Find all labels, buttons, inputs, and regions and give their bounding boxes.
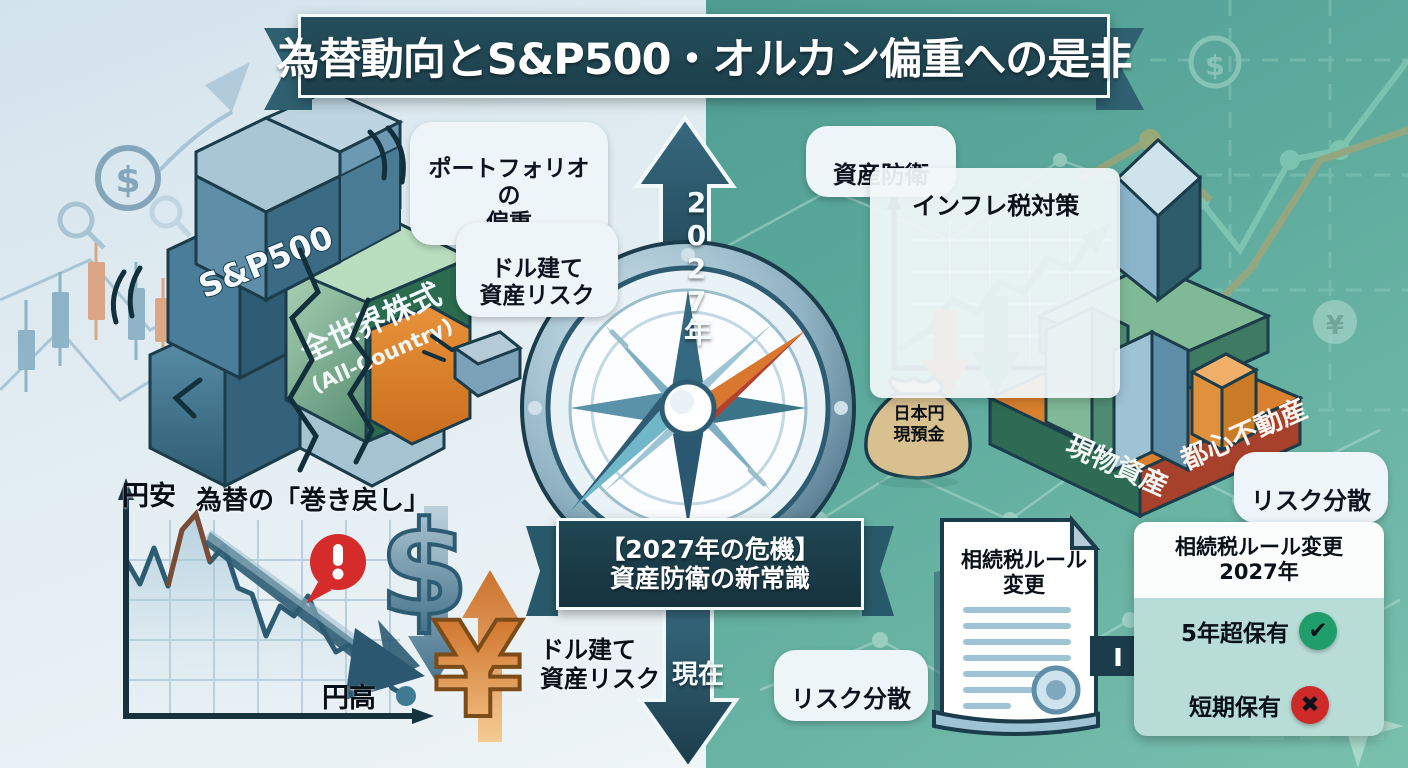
inheritance-title-line1: 相続税ルール変更 (1175, 535, 1343, 560)
center-banner: 【2027年の危機】 資産防衛の新常識 (540, 518, 880, 610)
center-banner-body: 【2027年の危機】 資産防衛の新常識 (556, 518, 864, 610)
inheritance-row-long-hold: 5年超保有 ✔ (1134, 612, 1384, 650)
inflation-card-title: インフレ税対策 (912, 186, 1079, 221)
inheritance-row-short-hold: 短期保有 ✖ (1134, 686, 1384, 724)
title-ribbon: 為替動向とS&P500・オルカン偏重への是非 (264, 14, 1144, 98)
money-bag-line2: 現預金 (884, 425, 954, 446)
money-bag-line1: 日本円 (884, 404, 954, 425)
bubble-risk-diversify-center: リスク分散 (774, 650, 928, 721)
svg-text:$: $ (1205, 49, 1224, 82)
inheritance-card-header: 相続税ルール変更 2027年 (1134, 522, 1384, 598)
bubble-dollar-asset-risk: ドル建て 資産リスク (456, 222, 618, 317)
svg-text:$: $ (115, 160, 140, 201)
inheritance-card-body: 5年超保有 ✔ 短期保有 ✖ (1134, 598, 1384, 736)
inheritance-row-short-hold-label: 短期保有 (1189, 688, 1281, 722)
fx-annotation: 為替の「巻き戻し」 (196, 480, 430, 517)
bubble-dollar-asset-risk-label: ドル建て 資産リスク (480, 256, 595, 309)
document-label: 相続税ルール 変更 (948, 548, 1100, 598)
check-icon: ✔ (1299, 612, 1337, 650)
infographic-canvas: $ (0, 0, 1408, 768)
center-banner-line1: 【2027年の危機】 (600, 535, 820, 564)
bubble-risk-diversify-right-label: リスク分散 (1251, 487, 1371, 515)
inheritance-rule-card: 相続税ルール変更 2027年 5年超保有 ✔ 短期保有 ✖ (1134, 522, 1384, 736)
yen-up-symbol: ¥ (432, 570, 524, 748)
fx-label-yen-strong: 円高 (322, 676, 376, 715)
inheritance-row-long-hold-label: 5年超保有 (1181, 614, 1289, 648)
cross-icon: ✖ (1291, 686, 1329, 724)
arrow-up-label-wrap: 2027年 (676, 186, 716, 350)
inheritance-card-tail (1134, 608, 1135, 646)
fx-label-yen-weak: 円安 (122, 474, 176, 513)
bubble-risk-diversify-right: リスク分散 (1234, 452, 1388, 523)
center-banner-line2: 資産防衛の新常識 (610, 564, 810, 593)
svg-text:¥: ¥ (1326, 311, 1344, 341)
svg-text:¥: ¥ (432, 594, 524, 748)
page-title: 為替動向とS&P500・オルカン偏重への是非 (277, 25, 1131, 87)
inheritance-title-line2: 2027年 (1219, 560, 1298, 585)
money-bag-label: 日本円 現預金 (884, 404, 954, 447)
arrow-up-label: 2027年 (676, 186, 716, 346)
bubble-risk-diversify-center-label: リスク分散 (791, 685, 911, 713)
bottom-note-dollar-risk: ドル建て 資産リスク (540, 636, 660, 694)
arrow-down-label: 現在 (672, 660, 724, 690)
title-ribbon-body: 為替動向とS&P500・オルカン偏重への是非 (298, 14, 1110, 98)
arrow-down-label-wrap: 現在 (672, 654, 724, 691)
